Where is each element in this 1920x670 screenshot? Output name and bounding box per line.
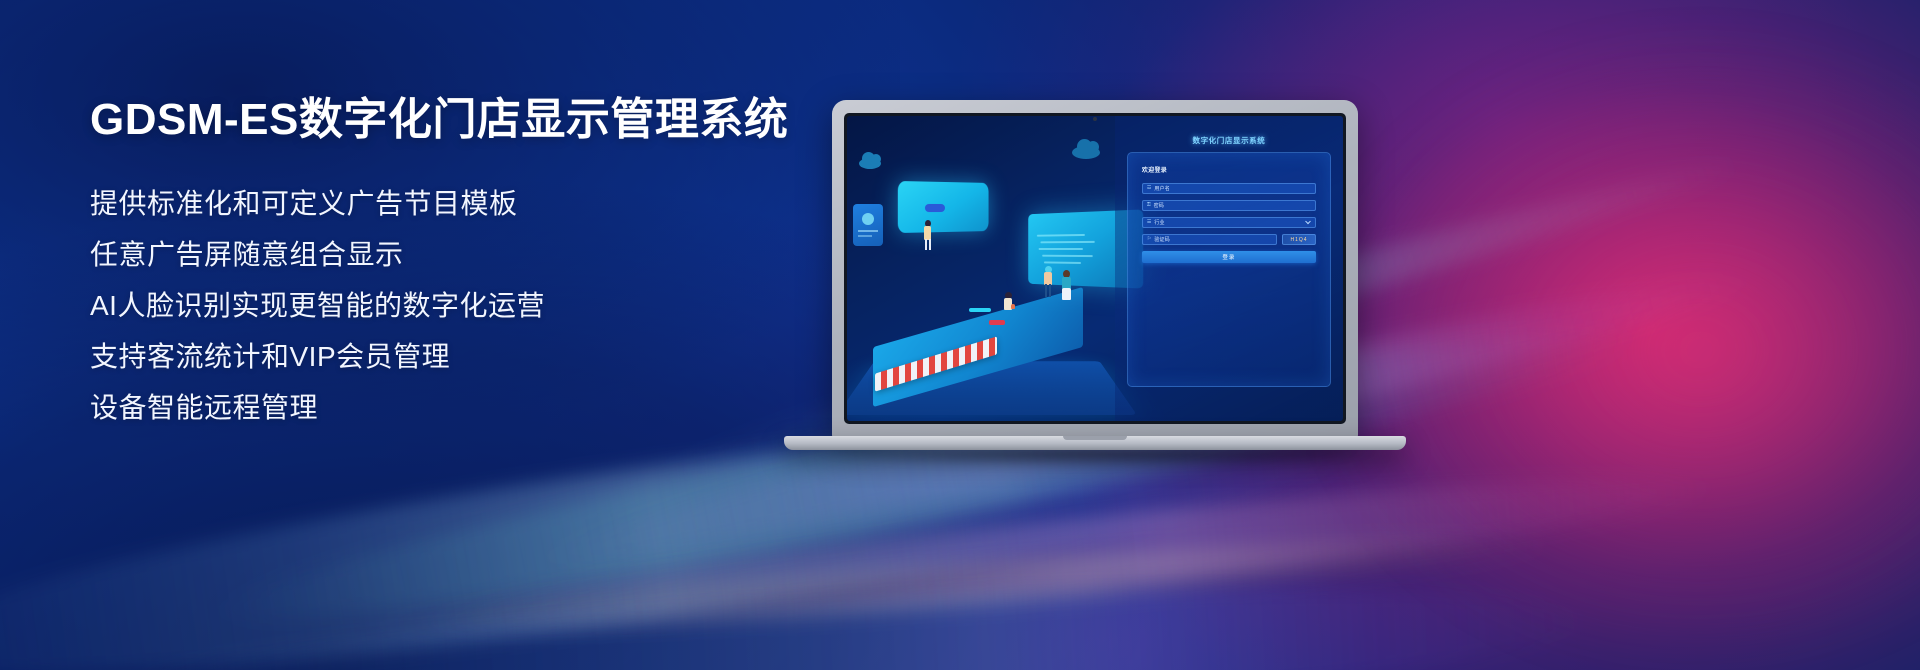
laptop-shadow [814,450,1376,468]
feature-list: 提供标准化和可定义广告节目模板 任意广告屏随意组合显示 AI人脸识别实现更智能的… [90,190,850,422]
person-visitor-female [1061,270,1073,302]
industry-placeholder: 行业 [1154,219,1164,226]
industry-select[interactable]: ☰ 行业 [1142,217,1316,228]
floating-info-card [853,204,883,246]
store-illustration [847,116,1135,421]
list-item: AI人脸识别实现更智能的数字化运营 [90,292,850,320]
person-leg [1049,284,1051,297]
text-line [858,235,872,237]
welcome-heading: 欢迎登录 [1142,165,1316,174]
person-visitor-male [1043,266,1054,298]
lock-icon: ⚿ [1147,203,1151,208]
floor-object-red [989,320,1005,325]
system-title: 数字化门店显示系统 [1115,135,1343,146]
user-icon: ☲ [1147,186,1151,191]
captcha-input[interactable]: ⚐ 验证码 [1142,234,1277,245]
wave-line [1038,248,1082,250]
list-item: 设备智能远程管理 [90,394,850,422]
password-field[interactable]: ⚿ 密码 [1142,200,1316,211]
login-panel-region: 数字化门店显示系统 欢迎登录 ☲ 用户名 ⚿ 密码 [1115,116,1343,421]
list-item: 支持客流统计和VIP会员管理 [90,343,850,371]
shopping-bag [1011,304,1015,309]
wave-line [1037,234,1085,237]
background-glow-right [1320,40,1920,660]
person-body [924,226,931,240]
person-leg [929,239,931,250]
list-item: 提供标准化和可定义广告节目模板 [90,190,850,218]
person-leg [1045,284,1047,297]
shield-icon: ⚐ [1147,237,1151,242]
person-leg [925,239,927,250]
laptop-base-notch [1063,436,1127,440]
laptop-lid: 数字化门店显示系统 欢迎登录 ☲ 用户名 ⚿ 密码 [832,100,1358,440]
laptop-screen: 数字化门店显示系统 欢迎登录 ☲ 用户名 ⚿ 密码 [847,116,1343,421]
captcha-row: ⚐ 验证码 H1Q4 [1142,234,1316,245]
wave-line [1044,261,1081,264]
password-placeholder: 密码 [1154,202,1164,209]
laptop-base [784,436,1406,450]
webcam-icon [1093,117,1097,121]
curved-display-left [898,181,989,233]
chevron-down-icon [1305,219,1311,225]
marketing-banner: GDSM-ES数字化门店显示管理系统 提供标准化和可定义广告节目模板 任意广告屏… [0,0,1920,670]
login-button[interactable]: 登录 [1142,251,1316,263]
login-card: 欢迎登录 ☲ 用户名 ⚿ 密码 ☰ 行业 [1127,152,1331,387]
cloud-icon [1072,146,1100,159]
banner-copy: GDSM-ES数字化门店显示管理系统 提供标准化和可定义广告节目模板 任意广告屏… [90,96,850,445]
laptop-mockup: 数字化门店显示系统 欢迎登录 ☲ 用户名 ⚿ 密码 [784,100,1406,460]
username-placeholder: 用户名 [1154,185,1170,192]
person-shopper [1003,292,1014,320]
page-title: GDSM-ES数字化门店显示管理系统 [90,96,850,144]
text-line [858,230,878,232]
person-presenter [923,220,933,250]
wave-line [1042,255,1093,257]
laptop-bezel: 数字化门店显示系统 欢迎登录 ☲ 用户名 ⚿ 密码 [844,113,1346,424]
captcha-image[interactable]: H1Q4 [1282,234,1316,245]
captcha-placeholder: 验证码 [1154,236,1170,243]
username-field[interactable]: ☲ 用户名 [1142,183,1316,194]
display-content-pill [925,204,945,212]
industry-icon: ☰ [1147,220,1151,225]
wave-line [1040,241,1094,243]
floor-object-cyan [969,308,991,312]
avatar [862,213,874,225]
person-skirt [1062,288,1071,300]
cloud-icon [859,158,881,169]
list-item: 任意广告屏随意组合显示 [90,241,850,269]
